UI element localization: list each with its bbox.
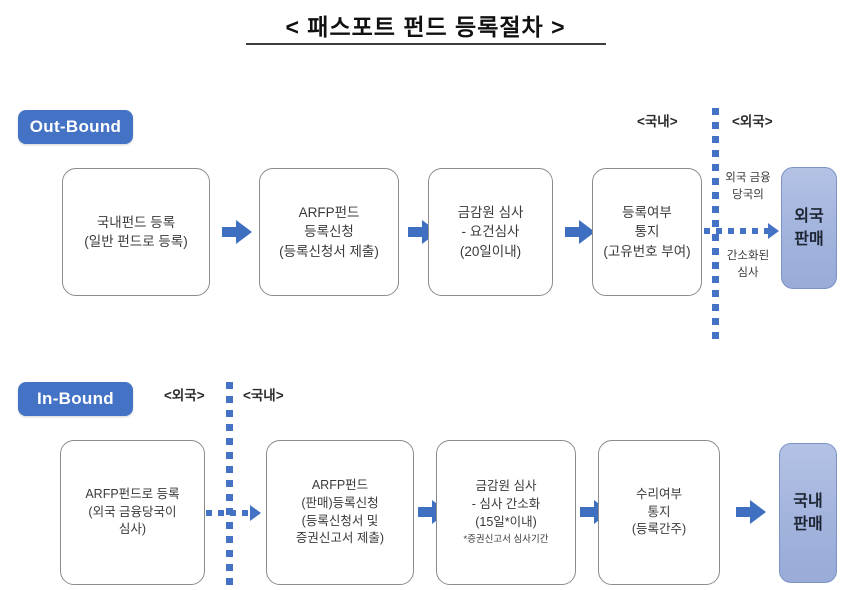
inbound-region-right-label: <국내> — [243, 384, 284, 404]
inbound-step-3[interactable]: 금감원 심사 - 심사 간소화 (15일*이내) *증권신고서 심사기간 — [436, 440, 576, 585]
outbound-region-right-label: <외국> — [732, 110, 773, 130]
title-underline — [246, 43, 606, 45]
inbound-step-3-footnote: *증권신고서 심사기간 — [464, 532, 549, 547]
outbound-crossing-note-bottom: 간소화된 심사 — [717, 248, 779, 283]
outbound-step-3-line-1: 금감원 심사 — [458, 203, 524, 222]
outbound-region-left-label: <국내> — [637, 110, 678, 130]
inbound-crossing-dotted-line — [206, 510, 254, 516]
outbound-region-divider — [712, 108, 719, 344]
outbound-step-3[interactable]: 금감원 심사 - 요건심사 (20일이내) — [428, 168, 553, 296]
inbound-step-4[interactable]: 수리여부 통지 (등록간주) — [598, 440, 720, 585]
outbound-badge: Out-Bound — [18, 110, 133, 144]
diagram-canvas: < 패스포트 펀드 등록절차 > Out-Bound <국내> <외국> 국내펀… — [0, 0, 851, 590]
inbound-step-3-line-3: (15일*이내) — [475, 514, 537, 532]
outbound-step-2-line-2: 등록신청 — [304, 222, 354, 241]
inbound-step-2-line-1: ARFP펀드 — [312, 477, 368, 495]
inbound-step-1-line-3: 심사) — [119, 521, 146, 539]
outbound-step-3-line-2: - 요건심사 — [462, 222, 520, 241]
outbound-terminal-box[interactable]: 외국 판매 — [781, 167, 837, 289]
inbound-step-4-line-2: 통지 — [647, 504, 670, 522]
inbound-step-2-line-2: (판매)등록신청 — [301, 495, 378, 513]
outbound-step-1-line-2: (일반 펀드로 등록) — [84, 232, 187, 251]
outbound-crossing-note-bottom-line-2: 심사 — [737, 267, 758, 279]
inbound-step-1-line-1: ARFP펀드로 등록 — [85, 486, 179, 504]
inbound-step-2-line-4: 증권신고서 제출) — [296, 530, 384, 548]
inbound-step-2-line-3: (등록신청서 및 — [302, 513, 379, 531]
inbound-region-left-label: <외국> — [164, 384, 205, 404]
outbound-crossing-note-top-line-1: 외국 금융 — [725, 172, 771, 184]
outbound-step-4-line-1: 등록여부 — [622, 203, 672, 222]
outbound-crossing-note-top: 외국 금융 당국의 — [717, 170, 779, 205]
inbound-terminal-line-1: 국내 — [793, 490, 822, 513]
outbound-step-3-line-3: (20일이내) — [460, 242, 521, 261]
inbound-terminal-line-2: 판매 — [793, 513, 822, 536]
inbound-crossing-arrow-head — [250, 505, 261, 521]
inbound-step-4-line-1: 수리여부 — [636, 486, 682, 504]
outbound-terminal-line-2: 판매 — [794, 228, 823, 251]
inbound-arrow-4 — [736, 500, 766, 524]
inbound-badge: In-Bound — [18, 382, 133, 416]
arrow-head — [236, 220, 252, 244]
inbound-step-3-line-2: - 심사 간소화 — [472, 496, 541, 514]
arrow-head — [750, 500, 766, 524]
page-title: < 패스포트 펀드 등록절차 > — [0, 8, 851, 42]
outbound-step-2-line-3: (등록신청서 제출) — [279, 242, 379, 261]
outbound-step-2-line-1: ARFP펀드 — [299, 203, 360, 222]
inbound-step-3-line-1: 금감원 심사 — [476, 478, 537, 496]
outbound-arrow-3 — [565, 220, 595, 244]
inbound-step-2[interactable]: ARFP펀드 (판매)등록신청 (등록신청서 및 증권신고서 제출) — [266, 440, 414, 585]
inbound-step-4-line-3: (등록간주) — [632, 521, 686, 539]
inbound-region-divider — [226, 382, 233, 590]
outbound-step-2[interactable]: ARFP펀드 등록신청 (등록신청서 제출) — [259, 168, 399, 296]
outbound-step-1-line-1: 국내펀드 등록 — [97, 213, 175, 232]
inbound-step-1[interactable]: ARFP펀드로 등록 (외국 금융당국이 심사) — [60, 440, 205, 585]
outbound-step-4-line-3: (고유번호 부여) — [603, 242, 690, 261]
outbound-step-4[interactable]: 등록여부 통지 (고유번호 부여) — [592, 168, 702, 296]
outbound-terminal-line-1: 외국 — [794, 205, 823, 228]
inbound-step-1-line-2: (외국 금융당국이 — [88, 504, 176, 522]
outbound-crossing-note-bottom-line-1: 간소화된 — [727, 250, 769, 262]
outbound-arrow-1 — [222, 220, 252, 244]
inbound-terminal-box[interactable]: 국내 판매 — [779, 443, 837, 583]
outbound-crossing-arrow-head — [768, 223, 779, 239]
outbound-crossing-dotted-line — [704, 228, 770, 234]
outbound-step-1[interactable]: 국내펀드 등록 (일반 펀드로 등록) — [62, 168, 210, 296]
outbound-step-4-line-2: 통지 — [635, 222, 660, 241]
outbound-crossing-note-top-line-2: 당국의 — [732, 189, 764, 201]
